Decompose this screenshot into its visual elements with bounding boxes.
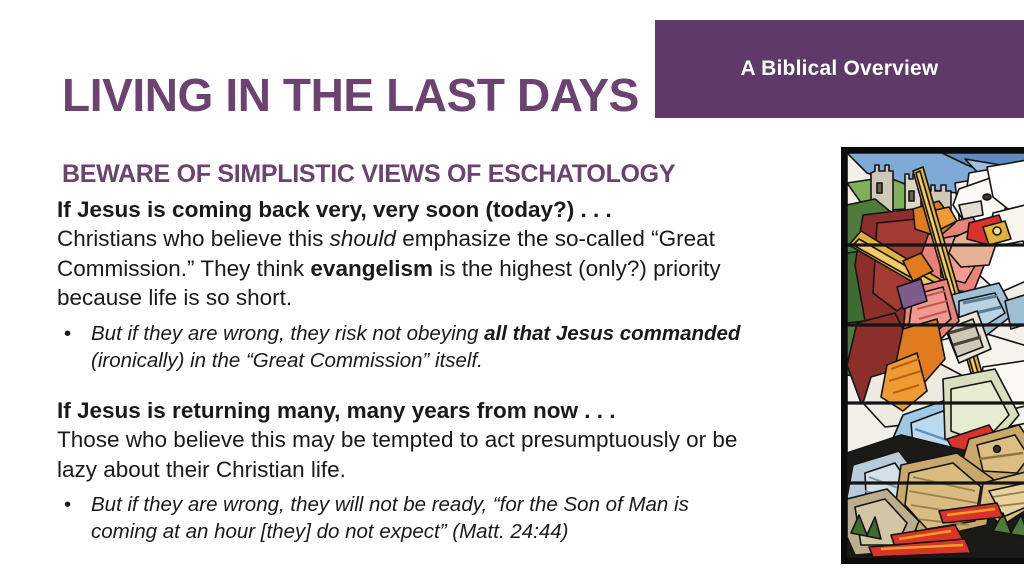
header-banner: A Biblical Overview: [655, 20, 1024, 118]
slide-root: { "slide": { "title": "LIVING IN THE LAS…: [0, 0, 1024, 576]
text-run: Christians who believe this: [57, 226, 330, 251]
list-item: •But if they are wrong, they will not be…: [57, 491, 757, 545]
text-run: evangelism: [310, 256, 433, 281]
body-paragraph: If Jesus is coming back very, very soon …: [57, 195, 757, 313]
text-run: all that Jesus commanded: [484, 322, 740, 345]
text-run: But if they are wrong, they risk not obe…: [91, 322, 484, 345]
text-run: (ironically) in the “Great Commission” i…: [91, 349, 483, 372]
stained-glass-artwork: [847, 153, 1024, 558]
body-content: If Jesus is coming back very, very soon …: [57, 195, 757, 545]
bullet-marker-icon: •: [64, 320, 71, 347]
page-title: LIVING IN THE LAST DAYS: [62, 72, 652, 118]
bullet-list: •But if they are wrong, they will not be…: [57, 491, 757, 545]
list-item: •But if they are wrong, they risk not ob…: [57, 320, 757, 374]
block-spacer: [57, 374, 757, 396]
text-run: Those who believe this may be tempted to…: [57, 427, 737, 481]
text-run: But if they are wrong, they will not be …: [91, 493, 689, 543]
stained-glass-frame: [841, 147, 1024, 564]
paragraph-lead: If Jesus is coming back very, very soon …: [57, 197, 612, 222]
section-heading: BEWARE OF SIMPLISTIC VIEWS OF ESCHATOLOG…: [62, 160, 782, 189]
body-paragraph: If Jesus is returning many, many years f…: [57, 396, 757, 484]
paragraph-lead: If Jesus is returning many, many years f…: [57, 398, 616, 423]
text-run: should: [330, 226, 396, 251]
bullet-marker-icon: •: [64, 491, 71, 518]
stained-glass-figure: [841, 147, 1024, 564]
header-banner-label: A Biblical Overview: [741, 57, 939, 81]
bullet-list: •But if they are wrong, they risk not ob…: [57, 320, 757, 374]
